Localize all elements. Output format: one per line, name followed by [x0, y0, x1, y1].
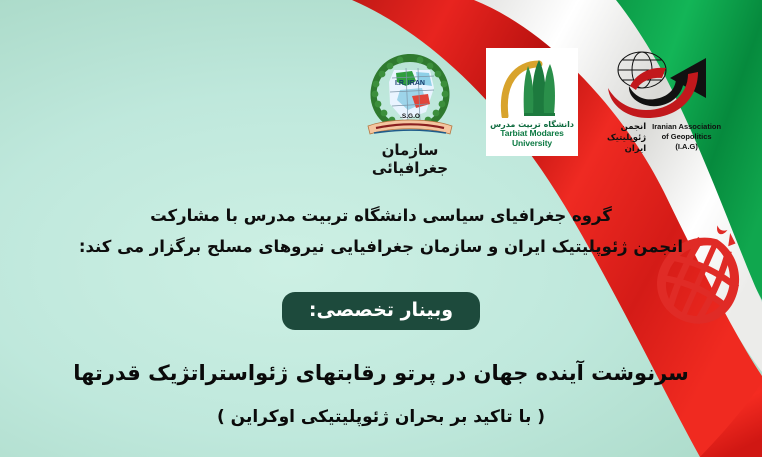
- logo-row: I.R. IRAN S.G.O. سازمان جغرافیائی: [0, 48, 762, 168]
- geopolitics-caption-fa: انجمنژئوپلیتیکایران: [607, 122, 646, 155]
- tarbiat-modares-emblem-icon: [495, 56, 569, 118]
- tarbiat-modares-caption-en-line2: University: [512, 139, 552, 149]
- geographic-organization-crest-icon: I.R. IRAN S.G.O.: [356, 48, 464, 140]
- poster-main-title: سرنوشت آینده جهان در پرتو رقابتهای ژئواس…: [0, 358, 762, 388]
- organiser-line-1: گروه جغرافیای سیاسی دانشگاه تربیت مدرس ب…: [0, 200, 762, 231]
- organiser-line-2: انجمن ژئوپلیتیک ایران و سازمان جغرافیایی…: [0, 231, 762, 262]
- organiser-block: گروه جغرافیای سیاسی دانشگاه تربیت مدرس ب…: [0, 200, 762, 262]
- svg-text:I.R. IRAN: I.R. IRAN: [395, 80, 425, 87]
- logo-tarbiat-modares-university: دانشگاه تربیت مدرس Tarbiat Modares Unive…: [486, 48, 578, 156]
- poster-subtitle: ( با تاکید بر بحران ژئوپلیتیکی اوکراین ): [0, 404, 762, 430]
- logo-geographic-organization-caption: سازمان جغرافیائی: [356, 141, 464, 177]
- logo-geographic-organization: I.R. IRAN S.G.O. سازمان جغرافیائی: [356, 48, 464, 166]
- webinar-type-badge: وبینار تخصصی:: [282, 292, 480, 330]
- webinar-badge-container: وبینار تخصصی:: [0, 292, 762, 330]
- geopolitics-globe-arrow-icon: [600, 48, 728, 124]
- webinar-poster: I.R. IRAN S.G.O. سازمان جغرافیائی: [0, 0, 762, 457]
- svg-text:S.G.O.: S.G.O.: [400, 113, 420, 120]
- logo-iranian-association-of-geopolitics: انجمنژئوپلیتیکایران Iranian Associationo…: [600, 48, 728, 166]
- geopolitics-caption-en: Iranian Associationof Geopolitics(I.A.G): [652, 122, 721, 152]
